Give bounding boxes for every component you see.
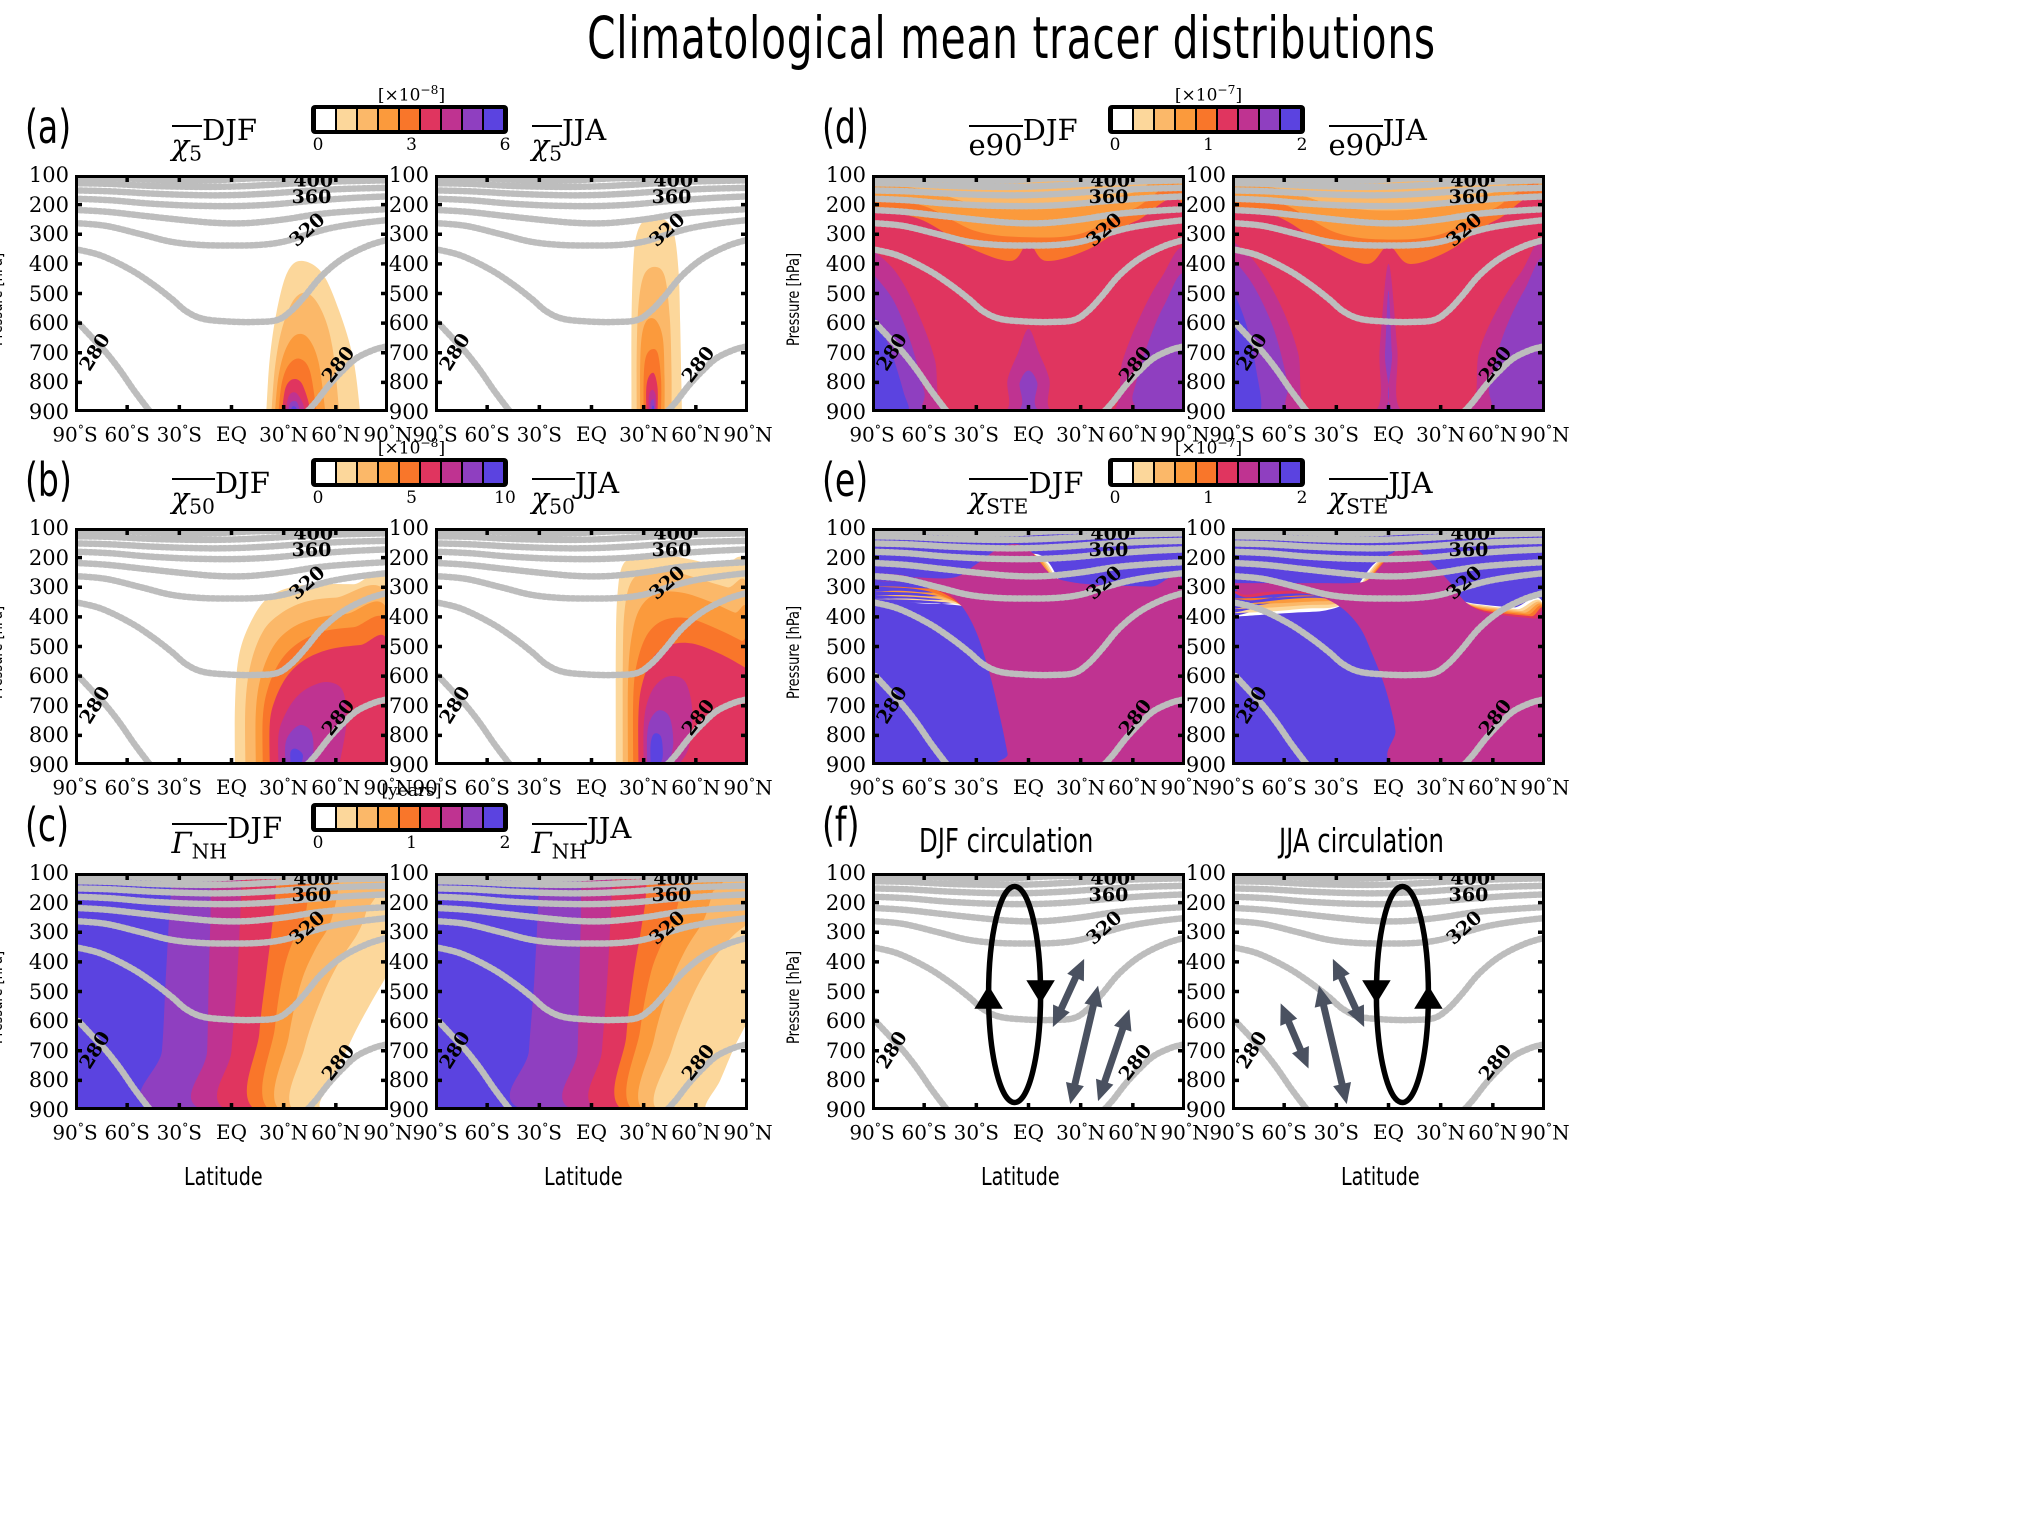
colorbar-tick: 0 [1110,488,1121,508]
x-tick-label: 60°S [104,775,149,799]
y-tick-label: 600 [822,664,866,688]
y-tick-label: 500 [385,282,429,306]
plot-area: 400360320280280 [75,873,388,1110]
panel-title-a-1: χ5JJA [532,113,607,166]
y-tick-label: 500 [25,282,69,306]
colorbar-swatch-7 [1260,462,1279,483]
y-tick-label: 400 [822,605,866,629]
x-tick-label: 90°N [1160,1120,1209,1144]
y-tick-label: 800 [1182,723,1226,747]
colorbar-swatch-2 [1155,109,1174,130]
y-tick-label: 200 [385,193,429,217]
colorbar-swatch-0 [316,807,335,828]
y-tick-label: 300 [385,920,429,944]
y-tick-label: 700 [822,694,866,718]
y-tick-label: 400 [25,605,69,629]
season-label: JJA [587,811,631,845]
x-tick-label: 30°N [1056,775,1105,799]
x-tick-label: 60°N [1468,1120,1517,1144]
y-tick-label: 300 [25,222,69,246]
y-tick-label: 500 [822,282,866,306]
isentrope-label: 360 [1089,186,1129,208]
y-tick-label: 900 [25,753,69,777]
x-tick-label: EQ [1013,1120,1044,1144]
y-tick-label: 500 [1182,282,1226,306]
subplot-c-1: 400360320280280 [435,873,748,1110]
x-tick-label: 90°S [849,1120,894,1144]
y-tick-label: 600 [25,311,69,335]
colorbar-swatches [311,803,508,832]
y-tick-label: 700 [25,341,69,365]
y-tick-label: 300 [822,920,866,944]
panel-letter-e: (e) [822,453,868,507]
plot-area: 400360320280280 [872,873,1185,1110]
colorbar-swatch-4 [400,462,419,483]
panel-title-c-0: ΓNHDJF [172,811,283,864]
isentrope-label: 360 [1449,539,1489,561]
x-tick-label: 90°N [1520,775,1569,799]
y-tick-label: 800 [25,1068,69,1092]
colorbar-swatch-3 [379,462,398,483]
x-tick-label: EQ [1373,1120,1404,1144]
subplot-d-1: 400360320280280 [1232,175,1545,412]
y-tick-label: 400 [1182,950,1226,974]
y-tick-label: 700 [822,1039,866,1063]
x-tick-label: 60°N [671,1120,720,1144]
y-tick-label: 900 [822,400,866,424]
x-tick-label: 30°S [517,775,562,799]
y-tick-label: 200 [822,891,866,915]
colorbar-swatch-3 [1176,462,1195,483]
x-tick-label: 60°S [901,775,946,799]
y-tick-label: 900 [822,753,866,777]
y-tick-label: 800 [1182,1068,1226,1092]
y-tick-label: 100 [822,163,866,187]
y-tick-label: 600 [822,1009,866,1033]
x-tick-label: 60°N [671,422,720,446]
colorbar-swatch-8 [1281,109,1300,130]
y-tick-label: 600 [25,1009,69,1033]
x-tick-label: 30°S [954,1120,999,1144]
colorbar-swatches [311,105,508,134]
colorbar-swatch-6 [442,109,461,130]
x-tick-label: 60°S [901,1120,946,1144]
colorbar-swatch-2 [358,807,377,828]
y-tick-label: 600 [385,664,429,688]
y-tick-label: 900 [25,400,69,424]
y-tick-label: 800 [822,370,866,394]
plot-area: 400360320280280 [1232,873,1545,1110]
x-tick-label: 90°S [1209,775,1254,799]
colorbar-swatch-5 [1218,462,1237,483]
x-tick-label: 30°S [517,1120,562,1144]
subplot-b-0: 400360320280280 [75,528,388,765]
isentrope-label: 360 [1449,186,1489,208]
y-tick-label: 300 [385,222,429,246]
y-tick-label: 400 [822,252,866,276]
colorbar-swatch-5 [421,109,440,130]
season-label: JJA [1388,466,1432,500]
y-tick-label: 500 [25,980,69,1004]
y-tick-label: 500 [25,635,69,659]
x-tick-label: EQ [1013,775,1044,799]
colorbar-tick: 2 [1297,135,1308,155]
x-tick-label: 60°N [1468,422,1517,446]
x-tick-label: 60°N [671,775,720,799]
y-tick-label: 100 [385,516,429,540]
colorbar-tick: 5 [406,488,417,508]
colorbar-tick: 0 [313,833,324,853]
y-tick-label: 900 [385,753,429,777]
panel-title-a-0: χ5DJF [172,113,257,166]
y-tick-label: 600 [822,311,866,335]
plot-area: 400360320280280 [75,175,388,412]
x-tick-label: 90°S [412,1120,457,1144]
colorbar-tick: 1 [1203,135,1214,155]
y-tick-label: 800 [385,723,429,747]
colorbar-swatch-8 [484,109,503,130]
y-tick-label: 200 [385,891,429,915]
x-tick-label: EQ [1373,775,1404,799]
y-tick-label: 700 [1182,341,1226,365]
x-axis-label: Latitude [981,1162,1060,1191]
colorbar-swatch-5 [421,807,440,828]
x-tick-label: 60°N [311,1120,360,1144]
colorbar-unit: [×10−7] [1108,436,1309,459]
y-tick-label: 500 [822,980,866,1004]
subplot-e-0: 400360320280280 [872,528,1185,765]
y-tick-label: 900 [1182,753,1226,777]
colorbar-swatch-3 [379,109,398,130]
isentrope-label: 360 [292,539,332,561]
y-tick-label: 900 [1182,400,1226,424]
colorbar-swatch-0 [316,462,335,483]
x-tick-label: 30°N [619,422,668,446]
y-tick-label: 400 [385,950,429,974]
x-tick-label: 30°S [954,775,999,799]
x-tick-label: 60°N [1468,775,1517,799]
x-tick-label: 90°N [363,1120,412,1144]
plot-area: 400360320280280 [1232,528,1545,765]
y-tick-label: 400 [385,252,429,276]
colorbar-swatch-7 [463,109,482,130]
isentrope-label: 360 [292,186,332,208]
panel-letter-a: (a) [25,100,71,154]
y-tick-label: 200 [822,193,866,217]
isentrope-label: 360 [292,884,332,906]
y-tick-label: 100 [25,516,69,540]
y-tick-label: 900 [822,1098,866,1122]
x-tick-label: 90°S [849,422,894,446]
colorbar-swatch-2 [358,109,377,130]
panel-letter-c: (c) [25,798,69,852]
subplot-f-1: 400360320280280 [1232,873,1545,1110]
colorbar-tick: 10 [494,488,516,508]
colorbar-swatch-1 [1134,462,1153,483]
y-tick-label: 100 [822,516,866,540]
x-tick-label: 30°S [1314,775,1359,799]
x-tick-label: 30°S [157,1120,202,1144]
panel-title-d-1: e90JJA [1329,113,1427,162]
season-label: DJF [1023,113,1078,147]
x-tick-label: 30°S [1314,1120,1359,1144]
y-tick-label: 200 [1182,891,1226,915]
subplot-d-0: 400360320280280 [872,175,1185,412]
subplot-c-0: 400360320280280 [75,873,388,1110]
colorbar-swatch-4 [1197,462,1216,483]
y-tick-label: 900 [25,1098,69,1122]
x-axis-label: Latitude [544,1162,623,1191]
y-tick-label: 400 [25,252,69,276]
y-tick-label: 700 [25,694,69,718]
y-tick-label: 400 [385,605,429,629]
colorbar-swatch-1 [1134,109,1153,130]
panel-letter-d: (d) [822,100,869,154]
plot-area: 400360320280280 [75,528,388,765]
panel-title-b-0: χ50DJF [172,466,270,519]
x-tick-label: 30°N [1416,775,1465,799]
y-tick-label: 300 [1182,222,1226,246]
isentrope-label: 360 [1449,884,1489,906]
y-tick-label: 800 [385,370,429,394]
y-axis-label: Pressure [hPa] [0,605,7,698]
y-tick-label: 900 [385,400,429,424]
colorbar-swatches [1108,458,1305,487]
y-tick-label: 300 [25,575,69,599]
y-tick-label: 200 [25,193,69,217]
y-tick-label: 100 [822,861,866,885]
y-tick-label: 800 [25,723,69,747]
x-tick-label: 30°S [517,422,562,446]
panel-letter-b: (b) [25,453,72,507]
x-tick-label: 60°S [901,422,946,446]
isentrope-label: 360 [652,539,692,561]
y-tick-label: 700 [1182,694,1226,718]
y-tick-label: 700 [25,1039,69,1063]
x-tick-label: EQ [1013,422,1044,446]
x-tick-label: 30°N [619,775,668,799]
x-tick-label: 90°N [1160,775,1209,799]
y-tick-label: 100 [1182,516,1226,540]
x-tick-label: 30°N [259,1120,308,1144]
y-tick-label: 800 [25,370,69,394]
colorbar-swatch-0 [1113,462,1132,483]
season-label: JJA [1383,113,1427,147]
plot-area: 400360320280280 [435,873,748,1110]
x-tick-label: 60°S [104,1120,149,1144]
y-tick-label: 200 [1182,193,1226,217]
colorbar-swatch-3 [1176,109,1195,130]
x-tick-label: 90°S [849,775,894,799]
colorbar-swatches [1108,105,1305,134]
y-tick-label: 300 [1182,575,1226,599]
y-tick-label: 700 [385,1039,429,1063]
y-tick-label: 100 [25,163,69,187]
y-tick-label: 300 [822,575,866,599]
plot-area: 400360320280280 [872,528,1185,765]
y-axis-label: Pressure [hPa] [0,252,7,345]
plot-area: 400360320280280 [1232,175,1545,412]
subplot-f-0: 400360320280280 [872,873,1185,1110]
colorbar-tick: 0 [313,488,324,508]
x-tick-label: 90°S [1209,1120,1254,1144]
x-tick-label: 60°S [1261,775,1306,799]
colorbar-swatch-8 [484,462,503,483]
colorbar-swatch-1 [337,807,356,828]
y-tick-label: 500 [1182,635,1226,659]
isentrope-label: 360 [1089,539,1129,561]
season-label: JJA [575,466,619,500]
colorbar-swatch-2 [1155,462,1174,483]
panel-title-c-1: ΓNHJJA [532,811,632,864]
y-tick-label: 600 [385,1009,429,1033]
y-tick-label: 100 [385,861,429,885]
y-tick-label: 400 [25,950,69,974]
colorbar-tick: 0 [1110,135,1121,155]
colorbar-swatch-1 [337,109,356,130]
panel-title-e-1: χSTEJJA [1329,466,1433,519]
isentrope-label: 360 [652,186,692,208]
isentrope-label: 360 [1089,884,1129,906]
x-tick-label: 30°N [1416,422,1465,446]
y-tick-label: 900 [1182,1098,1226,1122]
colorbar-swatch-7 [1260,109,1279,130]
season-label: DJF [227,811,282,845]
y-axis-label: Pressure [hPa] [784,252,804,345]
x-axis-label: Latitude [184,1162,263,1191]
plot-area: 400360320280280 [872,175,1185,412]
y-tick-label: 700 [385,341,429,365]
y-tick-label: 800 [822,1068,866,1092]
x-tick-label: 60°N [1108,1120,1157,1144]
plot-area: 400360320280280 [435,175,748,412]
y-tick-label: 600 [1182,664,1226,688]
x-tick-label: 30°S [1314,422,1359,446]
y-tick-label: 600 [25,664,69,688]
y-tick-label: 500 [1182,980,1226,1004]
colorbar-swatch-4 [400,109,419,130]
x-tick-label: EQ [1373,422,1404,446]
x-tick-label: 90°N [723,1120,772,1144]
colorbar-swatch-7 [463,462,482,483]
x-tick-label: 90°N [1520,422,1569,446]
x-tick-label: 30°N [259,422,308,446]
y-tick-label: 400 [1182,252,1226,276]
x-tick-label: 30°S [157,775,202,799]
colorbar-tick: 6 [500,135,511,155]
panel-letter-f: (f) [822,798,859,852]
season-label: JJA [562,113,606,147]
x-tick-label: 30°N [1056,1120,1105,1144]
y-tick-label: 500 [385,635,429,659]
y-tick-label: 100 [385,163,429,187]
y-tick-label: 300 [1182,920,1226,944]
y-tick-label: 100 [25,861,69,885]
panel-title-b-1: χ50JJA [532,466,620,519]
x-tick-label: 90°N [1520,1120,1569,1144]
x-tick-label: EQ [576,1120,607,1144]
colorbar-tick: 1 [1203,488,1214,508]
y-tick-label: 700 [1182,1039,1226,1063]
colorbar-tick: 2 [1297,488,1308,508]
colorbar-unit: [×10−8] [311,436,512,459]
x-tick-label: 90°N [723,775,772,799]
y-tick-label: 500 [822,635,866,659]
y-tick-label: 700 [822,341,866,365]
y-tick-label: 700 [385,694,429,718]
y-tick-label: 400 [1182,605,1226,629]
y-tick-label: 300 [25,920,69,944]
colorbar-swatch-6 [442,462,461,483]
x-tick-label: 60°S [1261,1120,1306,1144]
x-tick-label: 90°S [52,422,97,446]
x-tick-label: EQ [576,775,607,799]
x-axis-label: Latitude [1341,1162,1420,1191]
season-label: DJF [1028,466,1083,500]
subplot-e-1: 400360320280280 [1232,528,1545,765]
x-tick-label: 90°S [52,1120,97,1144]
subplot-b-1: 400360320280280 [435,528,748,765]
y-tick-label: 300 [385,575,429,599]
colorbar-tick: 2 [500,833,511,853]
y-axis-label: Pressure [hPa] [0,950,7,1043]
y-tick-label: 100 [1182,163,1226,187]
x-tick-label: 60°S [104,422,149,446]
y-tick-label: 500 [385,980,429,1004]
y-tick-label: 100 [1182,861,1226,885]
page-title: Climatological mean tracer distributions [223,4,1801,72]
x-tick-label: 60°N [1108,775,1157,799]
y-axis-label: Pressure [hPa] [784,605,804,698]
y-tick-label: 200 [25,891,69,915]
x-tick-label: EQ [216,1120,247,1144]
colorbar-swatch-5 [421,462,440,483]
x-tick-label: EQ [216,775,247,799]
season-label: DJF [215,466,270,500]
y-tick-label: 200 [25,546,69,570]
y-tick-label: 200 [385,546,429,570]
colorbar-tick: 0 [313,135,324,155]
colorbar-swatch-3 [379,807,398,828]
panel-title-f-0: DJF circulation [919,821,1093,860]
panel-title-d-0: e90DJF [969,113,1078,162]
y-tick-label: 800 [385,1068,429,1092]
colorbar-swatch-0 [316,109,335,130]
colorbar-unit: [×10−8] [311,83,512,106]
x-tick-label: 30°N [1416,1120,1465,1144]
y-tick-label: 200 [1182,546,1226,570]
x-tick-label: 90°S [52,775,97,799]
subplot-a-0: 400360320280280 [75,175,388,412]
colorbar-swatch-5 [1218,109,1237,130]
y-tick-label: 600 [385,311,429,335]
colorbar-swatch-0 [1113,109,1132,130]
x-tick-label: 30°N [619,1120,668,1144]
colorbar-swatch-4 [1197,109,1216,130]
x-tick-label: 30°S [954,422,999,446]
y-tick-label: 900 [385,1098,429,1122]
x-tick-label: 30°N [1056,422,1105,446]
colorbar-swatch-2 [358,462,377,483]
colorbar-swatch-8 [1281,462,1300,483]
y-tick-label: 600 [1182,311,1226,335]
y-axis-label: Pressure [hPa] [784,950,804,1043]
x-tick-label: 90°N [723,422,772,446]
colorbar-swatch-6 [442,807,461,828]
panel-title-f-1: JJA circulation [1279,821,1444,860]
colorbar-unit: [years] [311,781,512,801]
colorbar-tick: 1 [406,833,417,853]
